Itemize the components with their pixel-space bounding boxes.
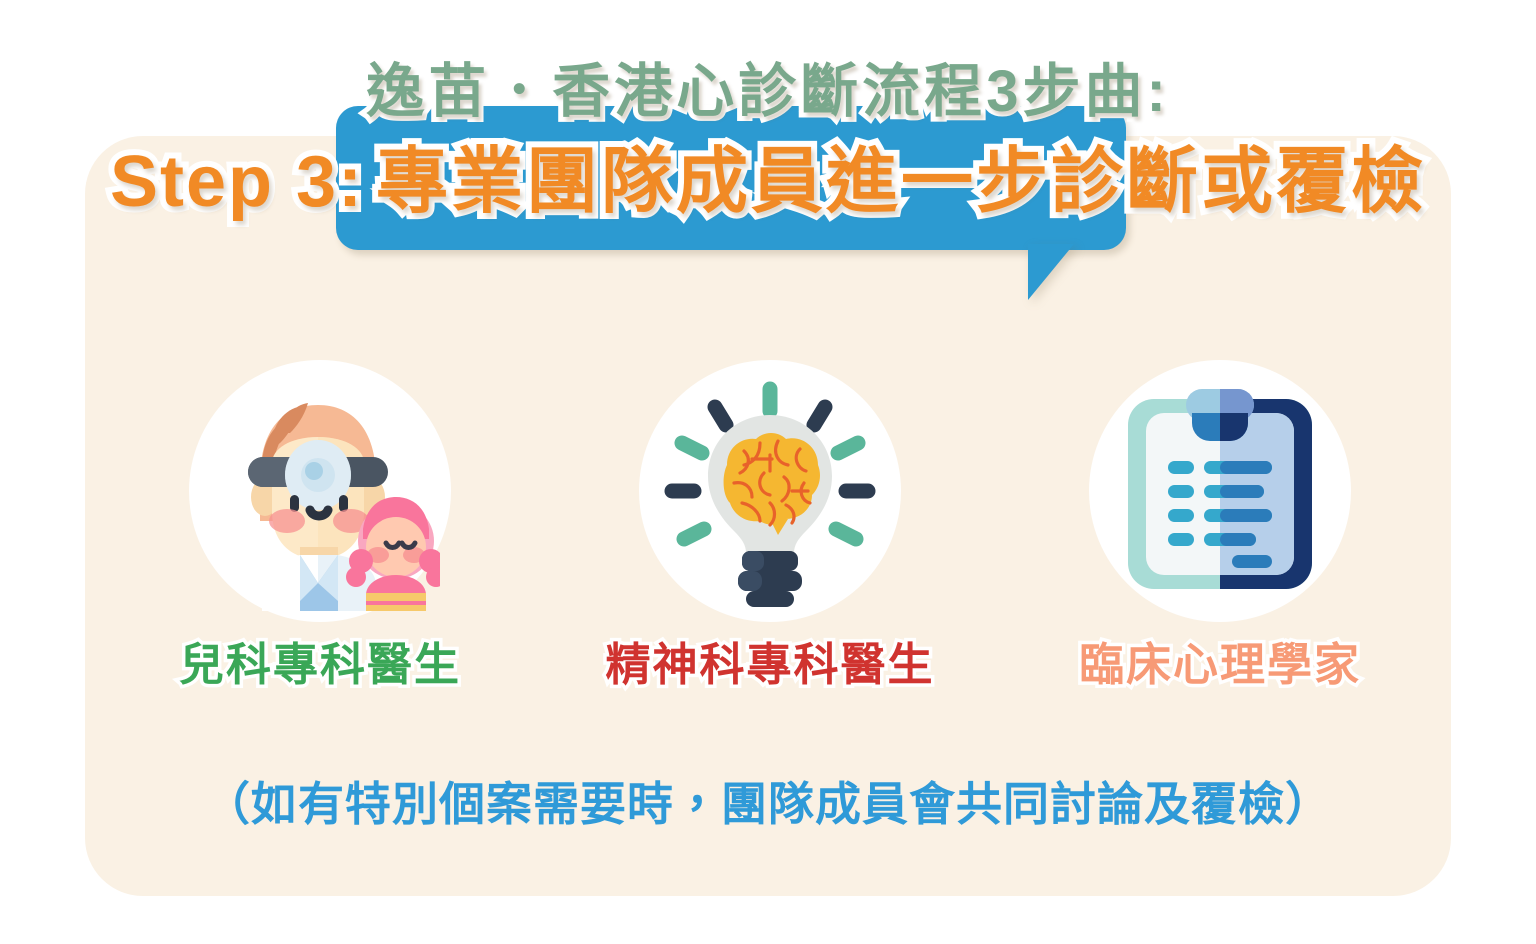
step-label: Step 3:	[110, 142, 364, 222]
role-label-psychiatrist: 精神科專科醫生	[605, 628, 934, 693]
footnote-text: （如有特別個案需要時，團隊成員會共同討論及覆檢）	[0, 768, 1536, 834]
role-item-pediatrician[interactable]: 兒科專科醫生	[120, 360, 520, 693]
brain-lightbulb-icon	[639, 360, 901, 622]
speech-bubble-tail	[1028, 244, 1074, 300]
clipboard-checklist-icon	[1089, 360, 1351, 622]
page-title: Step 3:專業團隊成員進一步診斷或覆檢	[0, 146, 1536, 218]
role-list: 兒科專科醫生	[120, 360, 1420, 690]
role-item-psychologist[interactable]: 臨床心理學家	[1020, 360, 1420, 693]
infographic-canvas: 逸苗．香港心診斷流程3步曲: Step 3:專業團隊成員進一步診斷或覆檢	[0, 0, 1536, 944]
role-label-psychologist: 臨床心理學家	[1079, 628, 1361, 693]
pediatric-doctor-icon	[189, 360, 451, 622]
role-label-pediatrician: 兒科專科醫生	[179, 628, 461, 693]
step-heading: 專業團隊成員進一步診斷或覆檢	[376, 142, 1426, 222]
series-title: 逸苗．香港心診斷流程3步曲:	[0, 62, 1536, 123]
role-item-psychiatrist[interactable]: 精神科專科醫生	[570, 360, 970, 693]
